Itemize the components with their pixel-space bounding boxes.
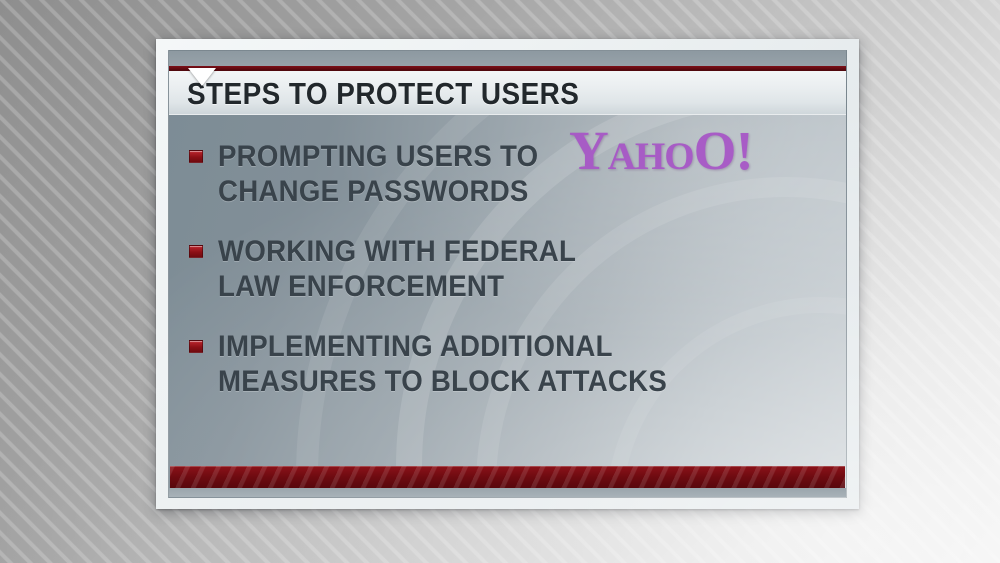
list-item: WORKING WITH FEDERAL LAW ENFORCEMENT: [189, 234, 846, 304]
bullet-list: YAHOO! PROMPTING USERS TO CHANGE PASSWOR…: [169, 115, 846, 399]
graphic-header: STEPS TO PROTECT USERS: [169, 51, 846, 115]
red-square-bullet-icon: [189, 245, 203, 258]
lower-third-card: STEPS TO PROTECT USERS YAHOO! PROMPTING …: [156, 39, 859, 509]
yahoo-logo-letters-aho: AHO: [608, 135, 694, 178]
bullet-line: CHANGE PASSWORDS: [218, 174, 538, 209]
yahoo-logo-letter-o: O: [694, 120, 736, 181]
bullet-line: WORKING WITH FEDERAL: [218, 234, 576, 269]
footer-red-bar: [170, 466, 845, 488]
bullet-line: PROMPTING USERS TO: [218, 139, 538, 174]
footer-base-strip: [169, 488, 846, 497]
yahoo-logo-letter-y: Y: [569, 120, 608, 181]
red-square-bullet-icon: [189, 150, 203, 163]
yahoo-logo: YAHOO!: [569, 123, 753, 184]
bullet-text: PROMPTING USERS TO CHANGE PASSWORDS: [218, 139, 538, 209]
red-square-bullet-icon: [189, 340, 203, 353]
bullet-text: IMPLEMENTING ADDITIONAL MEASURES TO BLOC…: [218, 329, 667, 399]
bullet-line: LAW ENFORCEMENT: [218, 269, 576, 304]
header-top-strip: [169, 51, 846, 66]
yahoo-logo-exclamation: !: [735, 120, 752, 181]
bullet-line: MEASURES TO BLOCK ATTACKS: [218, 364, 667, 399]
bullet-text: WORKING WITH FEDERAL LAW ENFORCEMENT: [218, 234, 576, 304]
page-title: STEPS TO PROTECT USERS: [187, 78, 579, 109]
triangle-down-icon: [188, 68, 216, 86]
title-band: STEPS TO PROTECT USERS: [169, 71, 846, 115]
bullet-line: IMPLEMENTING ADDITIONAL: [218, 329, 667, 364]
studio-backdrop: STEPS TO PROTECT USERS YAHOO! PROMPTING …: [0, 0, 1000, 563]
graphic-panel: STEPS TO PROTECT USERS YAHOO! PROMPTING …: [168, 50, 847, 498]
graphic-footer: [169, 466, 846, 497]
list-item: IMPLEMENTING ADDITIONAL MEASURES TO BLOC…: [189, 329, 846, 399]
